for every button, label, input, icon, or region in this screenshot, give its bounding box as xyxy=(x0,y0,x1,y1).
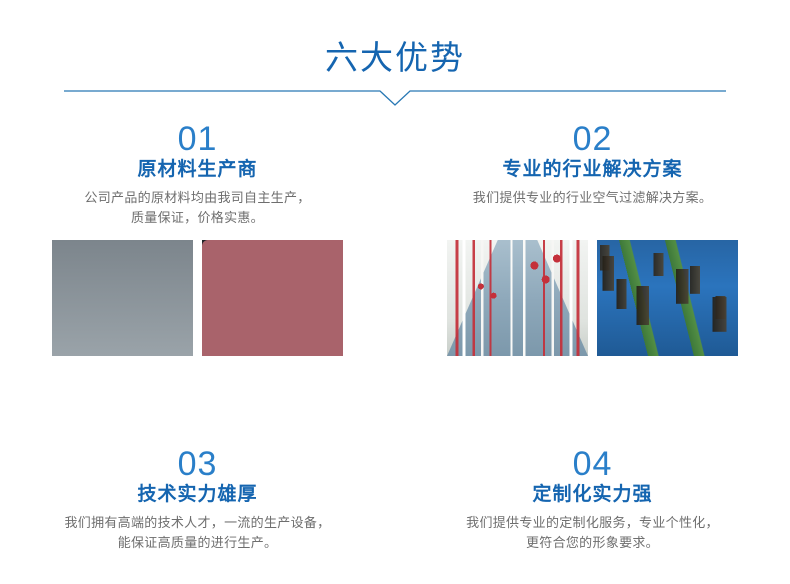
feature-description-line: 公司产品的原材料均由我司自主生产， xyxy=(0,188,395,208)
feature-title: 专业的行业解决方案 xyxy=(395,157,790,183)
feature-number: 01 xyxy=(0,120,395,158)
feature-description: 公司产品的原材料均由我司自主生产， 质量保证，价格实惠。 xyxy=(0,188,395,228)
feature-description: 我们提供专业的定制化服务，专业个性化， 更符合您的形象要求。 xyxy=(395,513,790,553)
feature-description-line: 更符合您的形象要求。 xyxy=(395,533,790,553)
feature-heading: 04 定制化实力强 xyxy=(395,445,790,508)
factory-workshop-overview-photo xyxy=(597,240,738,356)
feature-number: 04 xyxy=(395,445,790,483)
page-title: 六大优势 xyxy=(0,38,790,78)
feature-description: 我们拥有高端的技术人才，一流的生产设备， 能保证高质量的进行生产。 xyxy=(0,513,395,553)
feature-description-line: 我们提供专业的行业空气过滤解决方案。 xyxy=(395,188,790,208)
feature-description: 我们提供专业的行业空气过滤解决方案。 xyxy=(395,188,790,208)
header-divider xyxy=(64,85,726,107)
feature-photo-row xyxy=(0,240,395,356)
feature-heading: 02 专业的行业解决方案 xyxy=(395,120,790,183)
chevron-down-notch-icon xyxy=(64,85,726,107)
feature-description-line: 我们拥有高端的技术人才，一流的生产设备， xyxy=(0,513,395,533)
features-grid: 01 原材料生产商 公司产品的原材料均由我司自主生产， 质量保证，价格实惠。 xyxy=(0,120,790,584)
feature-heading: 01 原材料生产商 xyxy=(0,120,395,183)
metro-train-interior-photo xyxy=(447,240,588,356)
feature-description-line: 我们提供专业的定制化服务，专业个性化， xyxy=(395,513,790,533)
page-header: 六大优势 xyxy=(0,0,790,120)
filter-media-roll-factory-photo xyxy=(202,240,343,356)
feature-number: 03 xyxy=(0,445,395,483)
feature-title: 定制化实力强 xyxy=(395,482,790,508)
feature-number: 02 xyxy=(395,120,790,158)
feature-title: 技术实力雄厚 xyxy=(0,482,395,508)
feature-card-01[interactable]: 01 原材料生产商 公司产品的原材料均由我司自主生产， 质量保证，价格实惠。 xyxy=(0,120,395,356)
feature-card-02[interactable]: 02 专业的行业解决方案 我们提供专业的行业空气过滤解决方案。 xyxy=(395,120,790,356)
feature-card-04[interactable]: 04 定制化实力强 我们提供专业的定制化服务，专业个性化， 更符合您的形象要求。 xyxy=(395,445,790,553)
feature-card-03[interactable]: 03 技术实力雄厚 我们拥有高端的技术人才，一流的生产设备， 能保证高质量的进行… xyxy=(0,445,395,553)
feature-heading: 03 技术实力雄厚 xyxy=(0,445,395,508)
feature-description-line: 能保证高质量的进行生产。 xyxy=(0,533,395,553)
feature-title: 原材料生产商 xyxy=(0,157,395,183)
feature-description-line: 质量保证，价格实惠。 xyxy=(0,208,395,228)
feature-photo-row xyxy=(395,240,790,356)
filter-media-pleating-machine-photo xyxy=(52,240,193,356)
